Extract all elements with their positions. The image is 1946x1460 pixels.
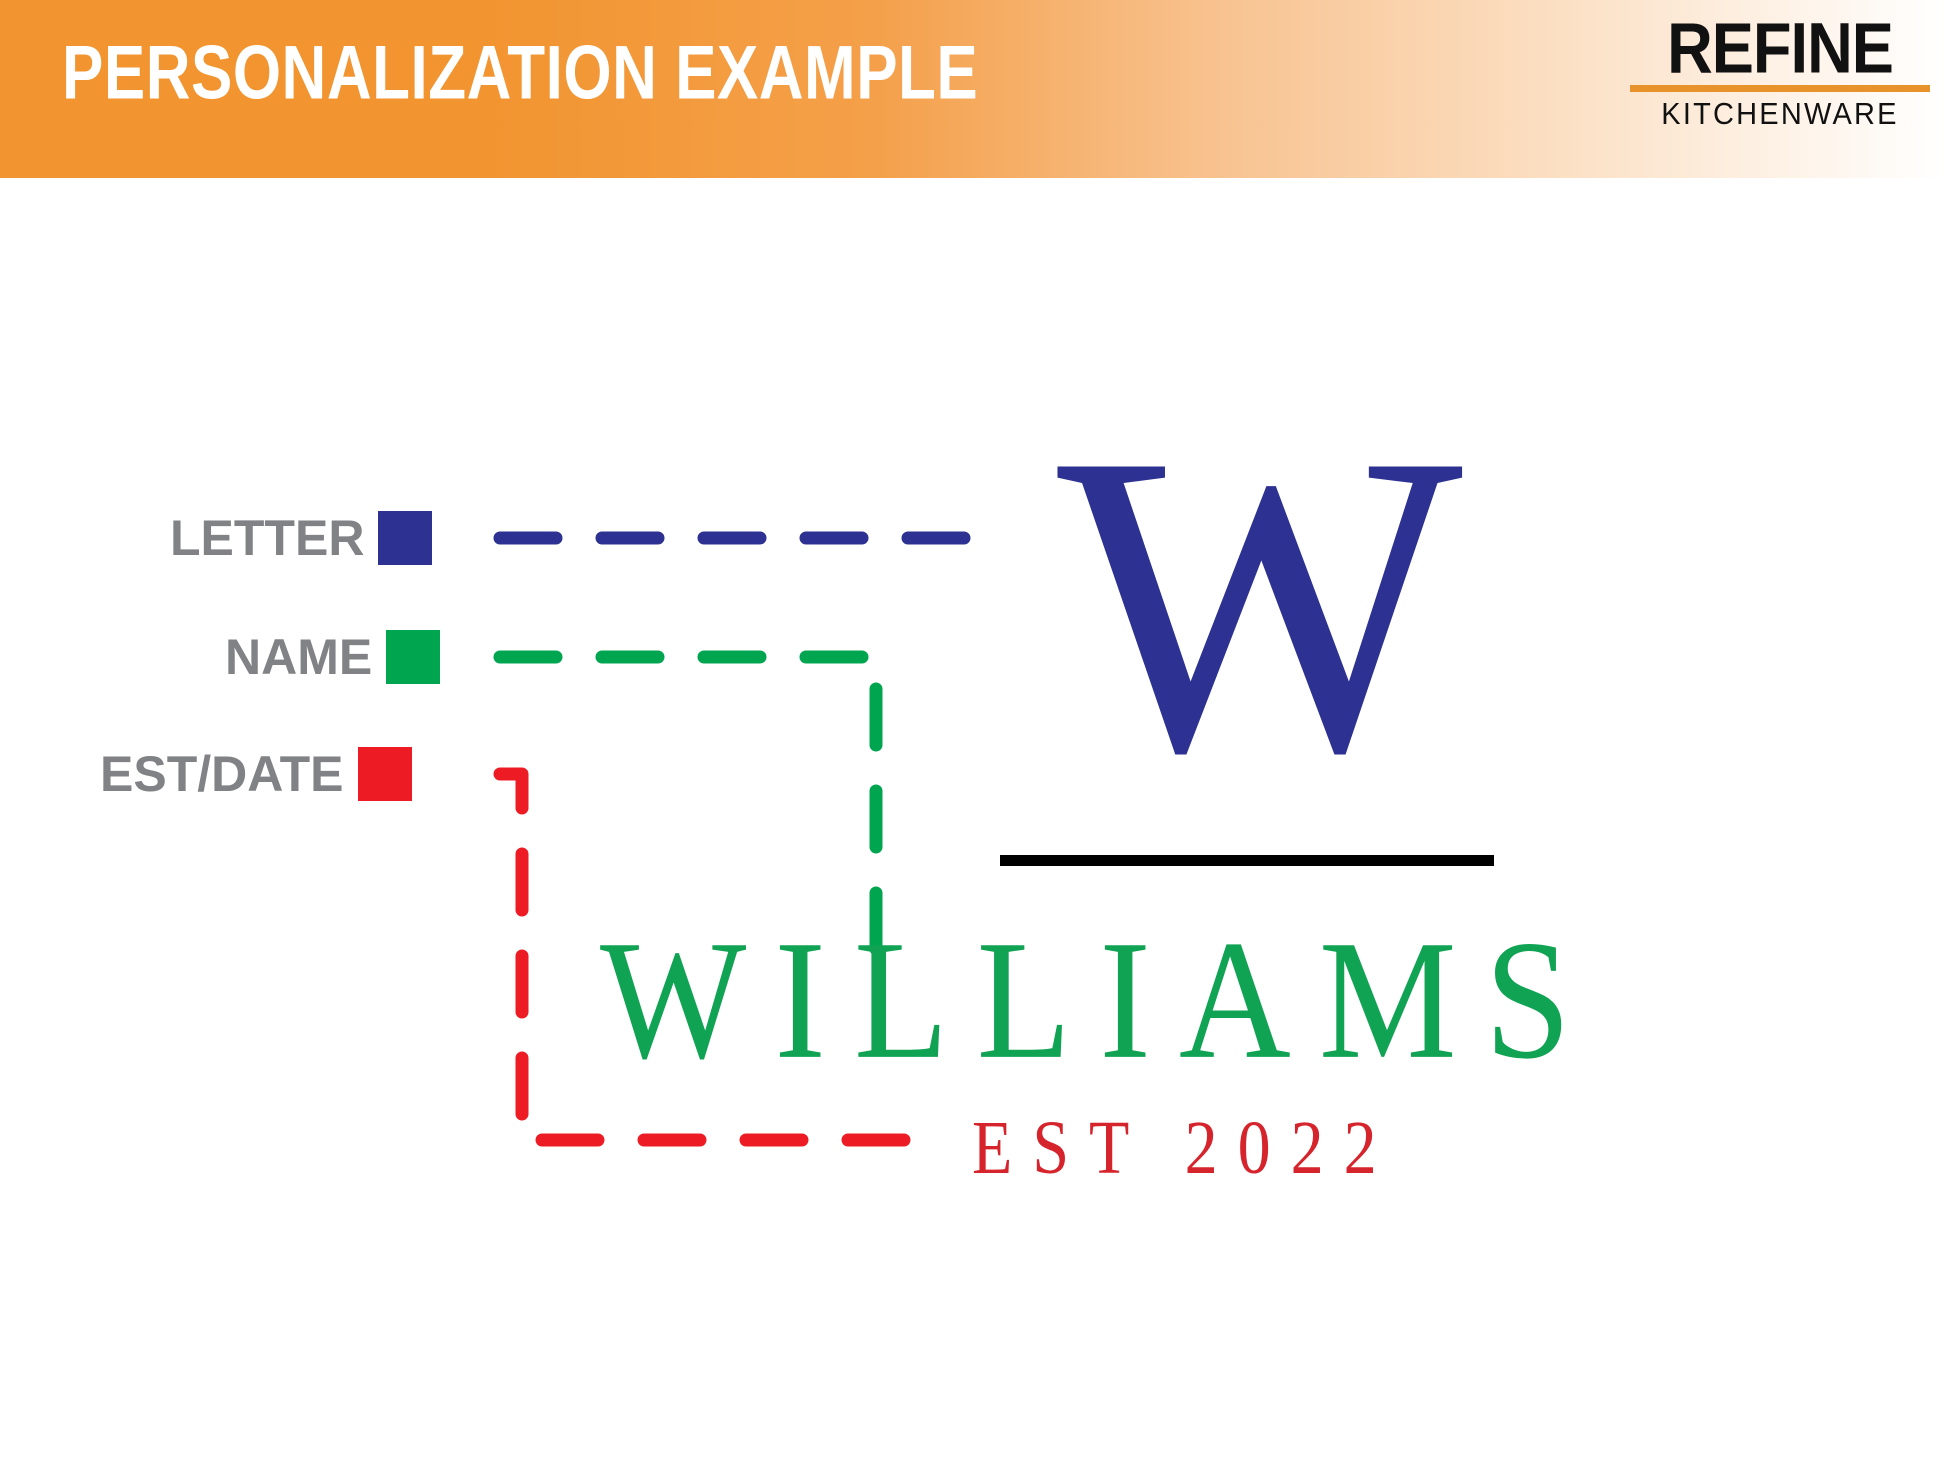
brand-logo: REFINE KITCHENWARE (1630, 16, 1930, 131)
legend-label-estdate: EST/DATE (100, 745, 344, 803)
brand-tagline: KITCHENWARE (1630, 98, 1930, 133)
legend-item-letter: LETTER (170, 510, 432, 566)
legend-item-name: NAME (225, 629, 440, 685)
monogram-name: WILLIAMS (600, 915, 1890, 1086)
brand-name: REFINE (1627, 16, 1933, 84)
legend-item-estdate: EST/DATE (100, 746, 412, 802)
monogram-letter: W (1000, 400, 1520, 809)
page-title: PERSONALIZATION EXAMPLE (62, 30, 978, 117)
legend-label-name: NAME (225, 628, 372, 686)
color-swatch-name (386, 630, 440, 684)
legend-label-letter: LETTER (170, 509, 364, 567)
color-swatch-estdate (358, 747, 412, 801)
monogram-divider (1000, 855, 1494, 866)
connector-lines (0, 0, 1946, 1460)
color-swatch-letter (378, 511, 432, 565)
monogram-established: EST 2022 (972, 1105, 1397, 1192)
slide-canvas: PERSONALIZATION EXAMPLE REFINE KITCHENWA… (0, 0, 1946, 1460)
